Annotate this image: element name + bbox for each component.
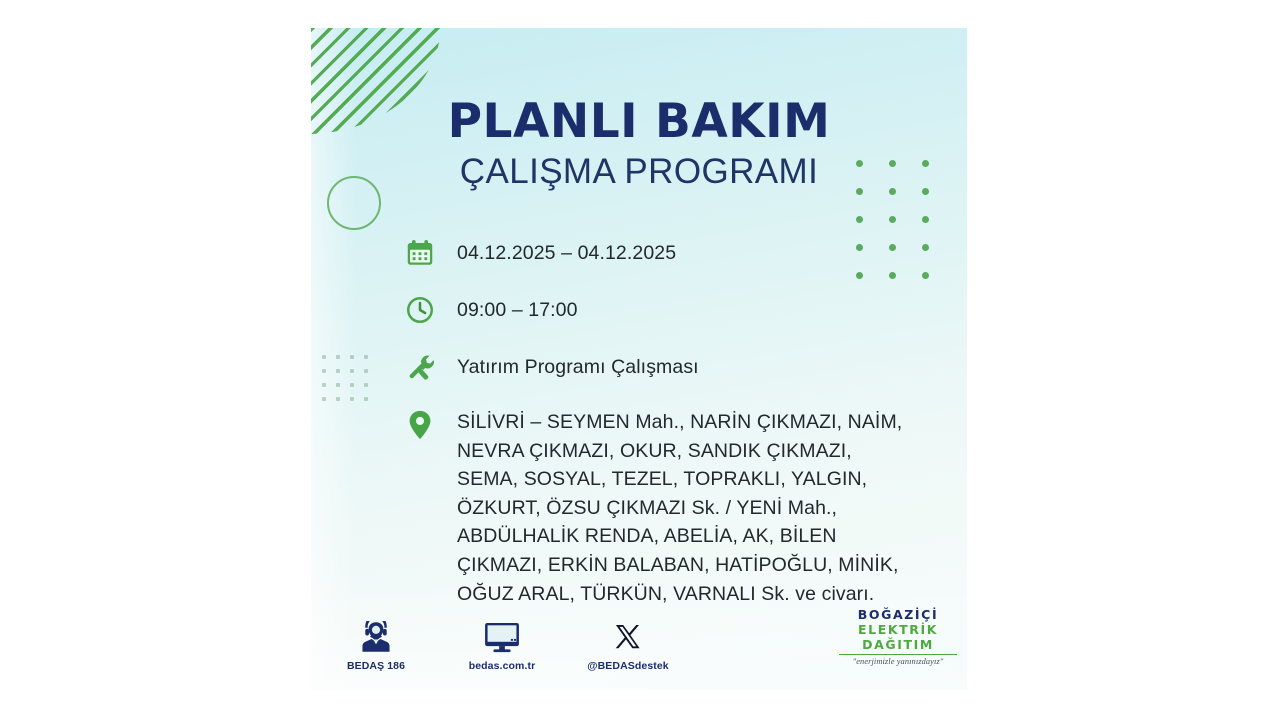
calendar-icon xyxy=(403,236,437,270)
detail-row-date: 04.12.2025 – 04.12.2025 xyxy=(403,236,933,270)
detail-row-time: 09:00 – 17:00 xyxy=(403,293,933,327)
x-twitter-icon xyxy=(585,619,671,653)
address-line: SEMA, SOSYAL, TEZEL, TOPRAKLI, YALGIN, xyxy=(457,465,902,494)
map-pin-icon xyxy=(403,408,437,442)
contact-label: bedas.com.tr xyxy=(459,660,545,672)
detail-row-location: SİLİVRİ – SEYMEN Mah., NARİN ÇIKMAZI, NA… xyxy=(403,407,933,608)
address-line: NEVRA ÇIKMAZI, OKUR, SANDIK ÇIKMAZI, xyxy=(457,437,902,466)
contact-website[interactable]: bedas.com.tr xyxy=(459,619,545,672)
brand-line-1: BOĞAZİÇİ xyxy=(837,607,959,622)
detail-row-reason: Yatırım Programı Çalışması xyxy=(403,350,933,384)
outage-reason: Yatırım Programı Çalışması xyxy=(457,350,699,382)
tools-icon xyxy=(403,350,437,384)
announcement-poster: PLANLI BAKIM ÇALIŞMA PROGRAMI xyxy=(311,28,967,690)
address-line: ABDÜLHALİK RENDA, ABELİA, AK, BİLEN xyxy=(457,522,902,551)
outage-time-range: 09:00 – 17:00 xyxy=(457,293,578,325)
outage-date-range: 04.12.2025 – 04.12.2025 xyxy=(457,236,676,268)
screenshot-canvas: PLANLI BAKIM ÇALIŞMA PROGRAMI xyxy=(0,0,1280,720)
brand-line-2: ELEKTRİK xyxy=(837,622,959,637)
poster-footer: BEDAŞ 186 xyxy=(311,602,967,678)
contact-label: @BEDASdestek xyxy=(585,660,671,672)
contact-call-center[interactable]: BEDAŞ 186 xyxy=(333,619,419,672)
affected-streets: SİLİVRİ – SEYMEN Mah., NARİN ÇIKMAZI, NA… xyxy=(457,407,902,608)
address-line: SİLİVRİ – SEYMEN Mah., NARİN ÇIKMAZI, NA… xyxy=(457,408,902,437)
address-line: ÇIKMAZI, ERKİN BALABAN, HATİPOĞLU, MİNİK… xyxy=(457,551,902,580)
address-line: ÖZKURT, ÖZSU ÇIKMAZI Sk. / YENİ Mah., xyxy=(457,494,902,523)
brand-line-3: DAĞITIM xyxy=(837,637,959,652)
contact-channels: BEDAŞ 186 xyxy=(333,619,671,672)
brand-divider xyxy=(839,654,957,655)
contact-x-twitter[interactable]: @BEDASdestek xyxy=(585,619,671,672)
bedas-logo: BOĞAZİÇİ ELEKTRİK DAĞITIM "enerjimizle y… xyxy=(837,607,959,666)
dot-grid-decoration-left xyxy=(322,355,378,411)
contact-label: BEDAŞ 186 xyxy=(333,660,419,672)
monitor-icon xyxy=(459,619,545,653)
outage-details: 04.12.2025 – 04.12.2025 09:00 – 17:00 xyxy=(403,236,933,631)
poster-heading: PLANLI BAKIM ÇALIŞMA PROGRAMI xyxy=(311,98,967,189)
clock-icon xyxy=(403,293,437,327)
page-title: PLANLI BAKIM xyxy=(311,98,967,145)
brand-tagline: "enerjimizle yanınızdayız" xyxy=(837,657,959,666)
headset-agent-icon xyxy=(333,619,419,653)
page-subtitle: ÇALIŞMA PROGRAMI xyxy=(311,154,967,189)
